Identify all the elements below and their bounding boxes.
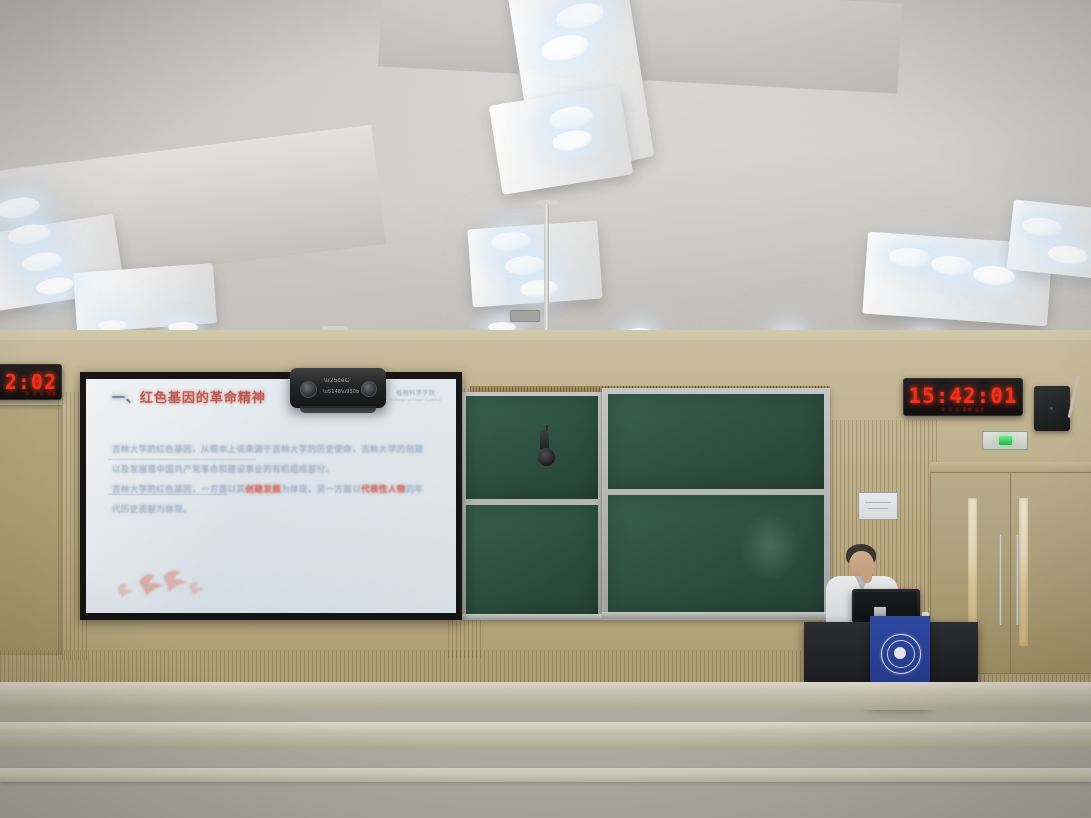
slide-text: 的年 xyxy=(406,484,424,494)
slide-paragraph: 吉林大学的红色基因，一方面以其创建发展为体现，另一方面以代表性人物的年 xyxy=(112,480,438,500)
speaker-center-dot xyxy=(1050,407,1053,410)
exit-sign xyxy=(982,431,1028,450)
slide-highlight-text: 代表性人物 xyxy=(361,484,406,494)
slide-institution-logo: 植物科学学院 College of Plant Science xyxy=(390,388,441,402)
blackboard-left-lower xyxy=(466,505,598,615)
slide-title-text: 红色基因的革命精神 xyxy=(140,390,266,405)
slide-text: 以及发展是中国共产党革命和建设事业的有机组成部分。 xyxy=(112,464,335,474)
led-clock-right-sublabel: 年 月 日 星期 温度 xyxy=(904,407,1022,413)
slide-paragraph: 吉林大学的红色基因，从根本上说来源于吉林大学的历史使命，吉林大学的创建 xyxy=(112,440,438,460)
slide-body-text: 吉林大学的红色基因，从根本上说来源于吉林大学的历史使命，吉林大学的创建以及发展是… xyxy=(112,440,438,520)
projector-brand-label: \u25ceC xyxy=(324,378,350,384)
projector-model-label: \u5148\u950b xyxy=(323,389,360,395)
slide-text-baseline-1 xyxy=(108,459,256,460)
slide-text: 吉林大学的红色基因，从根本上说来源于吉林大学的历史使命，吉林大学的创建 xyxy=(112,444,424,454)
slide-title-number: 一、 xyxy=(112,390,140,405)
slide-text: 代历史贡献为体现。 xyxy=(112,504,192,514)
ceiling-soffit-right-upper xyxy=(1007,199,1091,280)
led-clock-right: 15:42:01 年 月 日 星期 温度 xyxy=(903,378,1023,416)
blackboard-smudge xyxy=(740,512,800,582)
led-clock-right-time: 15:42:01 xyxy=(904,384,1022,408)
framed-notice xyxy=(858,492,898,520)
notice-text-line xyxy=(868,508,888,509)
blackboard-right-upper xyxy=(608,394,824,489)
led-clock-left: 2:02 年 月 日 温度 xyxy=(0,364,62,400)
projector-foot xyxy=(300,406,376,413)
projector-sensor-icon xyxy=(361,381,377,397)
slide-text: 为体现，另一方面以 xyxy=(281,484,361,494)
door-right-vision-panel xyxy=(1019,498,1028,646)
microphone-head-icon xyxy=(537,448,556,467)
slide-logo-line2: College of Plant Science xyxy=(390,397,441,402)
slide-paragraph: 以及发展是中国共产党革命和建设事业的有机组成部分。 xyxy=(112,460,438,480)
notice-text-line xyxy=(865,502,891,503)
slide-text-baseline-2 xyxy=(108,494,226,495)
led-clock-left-sublabel: 年 月 日 温度 xyxy=(0,391,61,397)
projection-screen: 一、红色基因的革命精神 植物科学学院 College of Plant Scie… xyxy=(86,379,456,613)
slide-highlight-text: 创建发展 xyxy=(245,484,281,494)
ceiling-service-box xyxy=(510,310,540,322)
slide-title: 一、红色基因的革命精神 xyxy=(112,387,266,406)
blackboard-left-upper xyxy=(466,396,598,499)
wall-recess-left xyxy=(0,405,62,655)
door-right-handle[interactable] xyxy=(1016,535,1019,625)
chalk-tray-right xyxy=(602,612,832,619)
chalk-tray-left xyxy=(462,614,604,620)
slide-logo-line1: 植物科学学院 xyxy=(390,388,441,397)
exit-running-man-icon xyxy=(999,436,1012,445)
lecture-hall-photo: 一、红色基因的革命精神 植物科学学院 College of Plant Scie… xyxy=(0,0,1091,818)
doves-graphic-icon xyxy=(105,562,225,604)
ceiling-soffit-left-lower xyxy=(73,263,217,333)
slide-paragraph: 代历史贡献为体现。 xyxy=(112,500,438,520)
slide-text: 吉林大学的红色基因，一方面以其 xyxy=(112,484,246,494)
presenter-hand xyxy=(862,570,872,583)
door-left-handle[interactable] xyxy=(999,535,1002,625)
wall-speaker xyxy=(1034,386,1070,431)
projector-lens-icon xyxy=(300,381,317,398)
ceiling-projector: \u25ceC \u5148\u950b xyxy=(290,368,386,408)
audience xyxy=(0,640,1091,818)
